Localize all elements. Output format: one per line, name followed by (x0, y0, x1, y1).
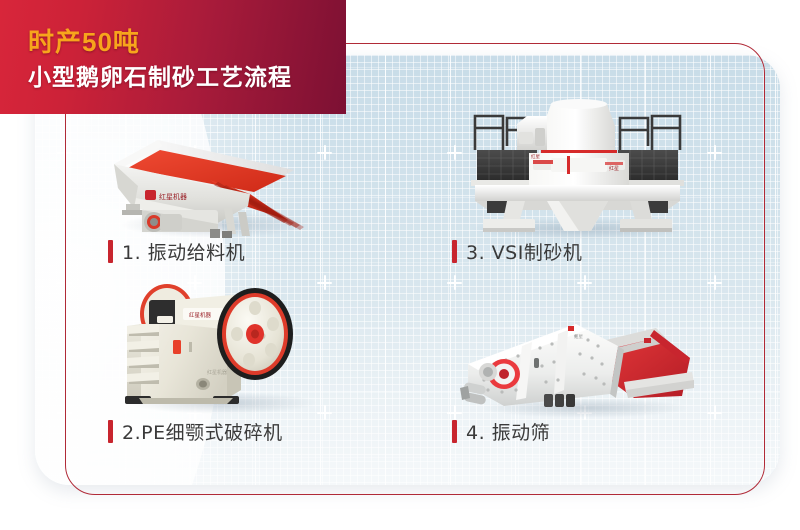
poster-canvas: 红星机器 1. 振动给料机 (0, 0, 800, 530)
svg-text:红星机器: 红星机器 (189, 311, 212, 319)
banner-title-line1: 时产50吨 (28, 22, 140, 59)
caption-marker-4 (452, 420, 457, 443)
caption-marker-1 (108, 240, 113, 263)
equipment-label-1: 1. 振动给料机 (122, 238, 245, 265)
equipment-label-4: 4. 振动筛 (466, 418, 550, 445)
svg-text:红星机器: 红星机器 (159, 192, 187, 201)
banner-title-line2: 小型鹅卵石制砂工艺流程 (28, 58, 292, 92)
equipment-label-2: 2.PE细颚式破碎机 (122, 418, 283, 445)
vsi-sand-maker-icon: 红星 红星 (455, 88, 700, 233)
svg-text:红星: 红星 (574, 333, 583, 340)
caption-marker-3 (452, 240, 457, 263)
title-banner: 时产50吨 小型鹅卵石制砂工艺流程 (0, 0, 346, 114)
equipment-caption-1: 1. 振动给料机 (108, 238, 245, 265)
vibrating-screen-icon: 红星 (458, 302, 706, 414)
equipment-label-3: 3. VSI制砂机 (466, 238, 582, 265)
equipment-caption-4: 4. 振动筛 (452, 418, 550, 445)
equipment-caption-3: 3. VSI制砂机 (452, 238, 582, 265)
jaw-crusher-icon: 红星机器 (115, 272, 320, 407)
svg-text:红星机器: 红星机器 (207, 369, 227, 376)
vibrating-feeder-icon: 红星机器 (98, 128, 348, 238)
svg-text:红星: 红星 (531, 153, 540, 160)
svg-text:红星: 红星 (609, 165, 619, 172)
equipment-caption-2: 2.PE细颚式破碎机 (108, 418, 283, 445)
caption-marker-2 (108, 420, 113, 443)
